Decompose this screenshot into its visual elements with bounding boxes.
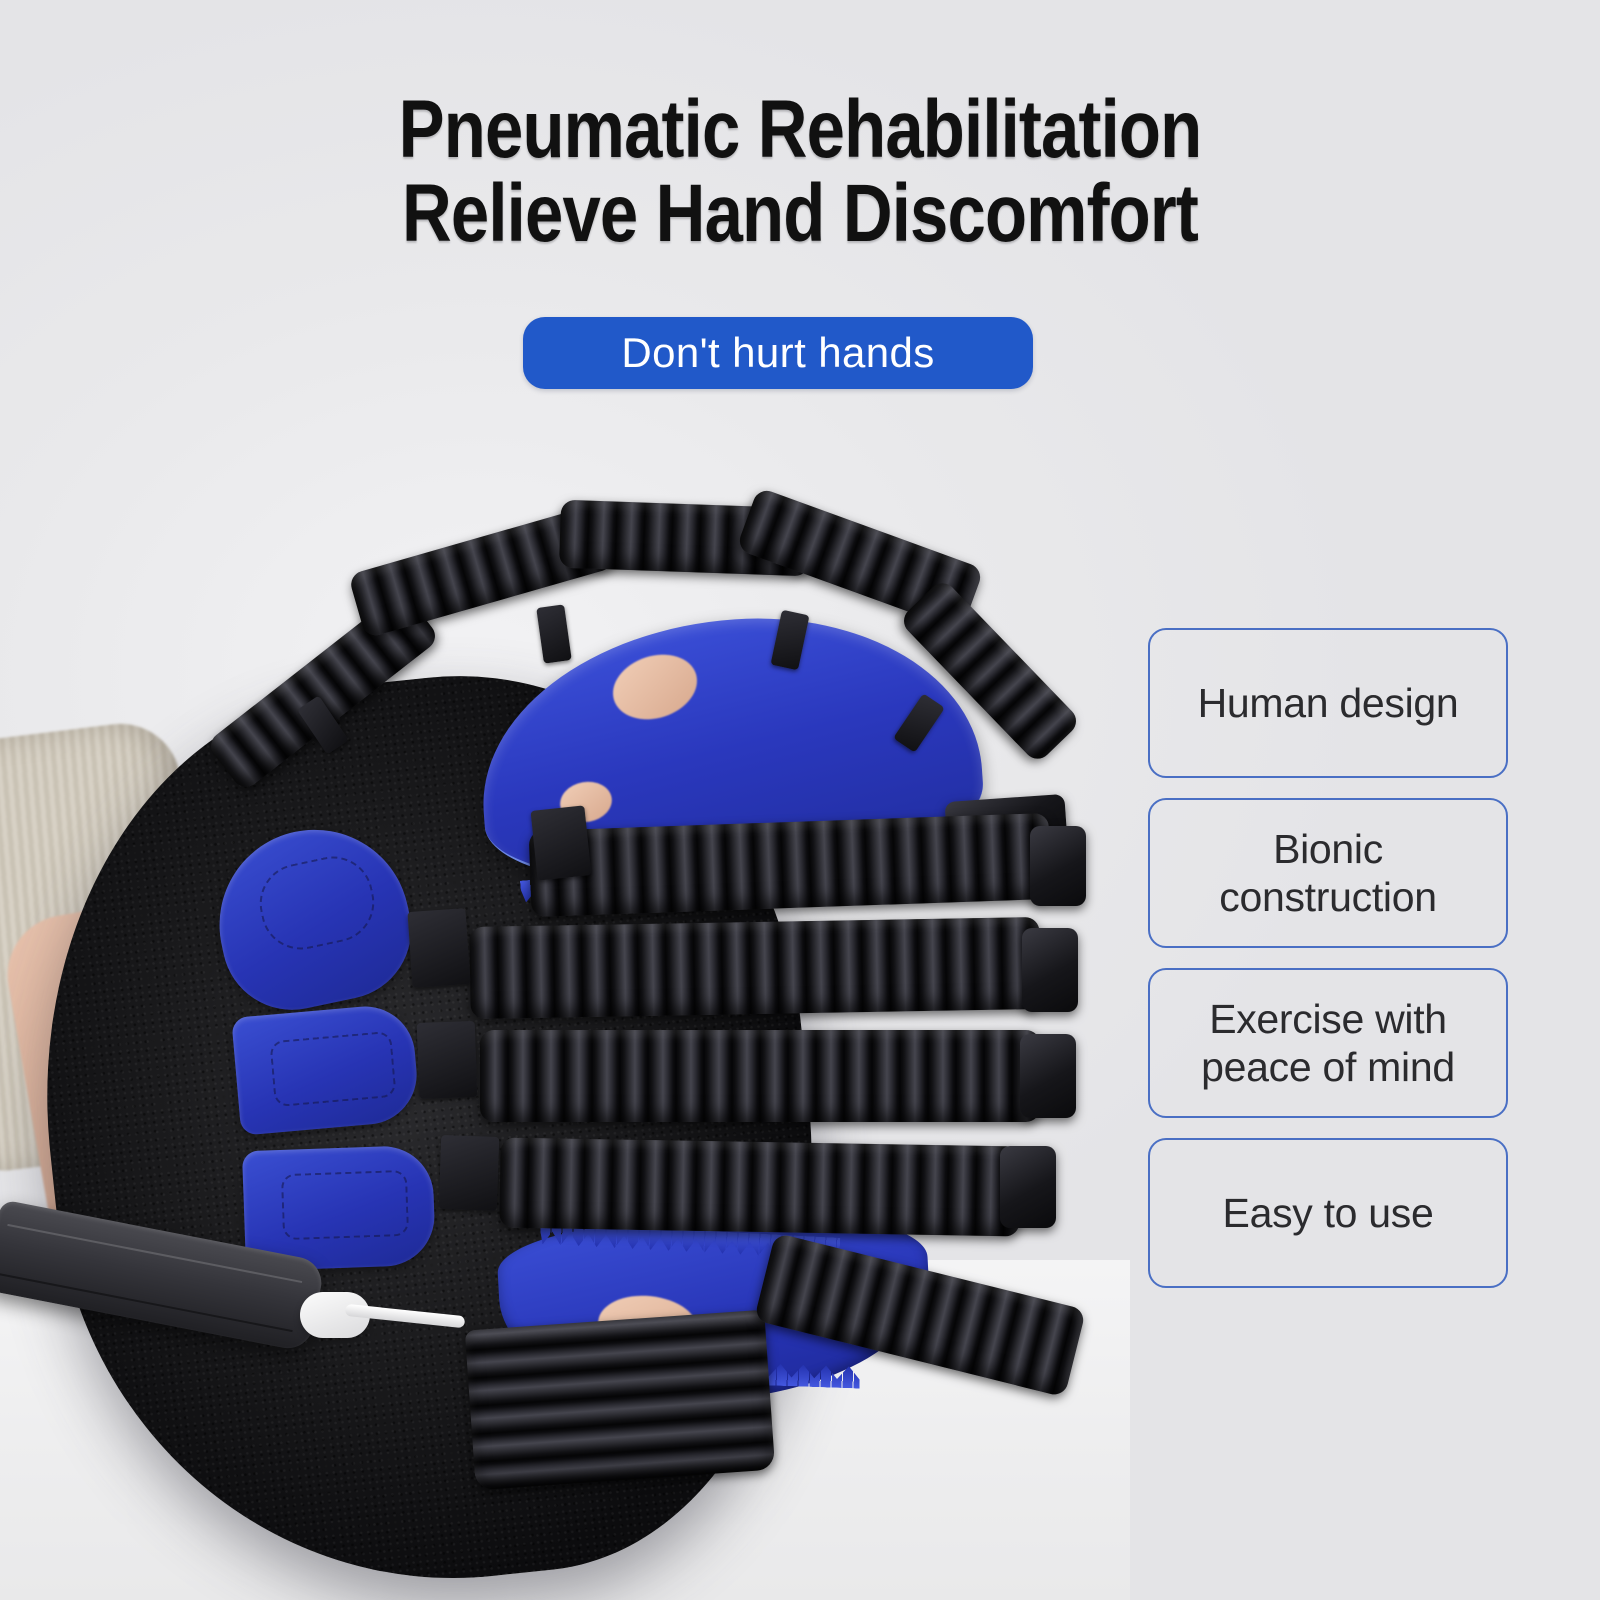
actuator-tube-finger-1	[529, 813, 1052, 917]
finger-pad-2-stitching	[269, 1031, 396, 1107]
product-photo-scene	[0, 430, 1130, 1600]
finger-pad-3-stitching	[281, 1170, 409, 1240]
page-headline: Pneumatic Rehabilitation Relieve Hand Di…	[128, 88, 1472, 255]
product-photo	[0, 430, 1130, 1600]
actuator-clip-finger-2	[407, 908, 470, 988]
feature-label: Exercise with peace of mind	[1160, 995, 1496, 1092]
actuator-end-cap-finger-2	[1022, 928, 1078, 1012]
dont-hurt-hands-badge: Don't hurt hands	[523, 317, 1033, 389]
actuator-clip-finger-4	[439, 1135, 500, 1211]
headline-line-2: Relieve Hand Discomfort	[128, 172, 1472, 256]
feature-label: Bionic construction	[1160, 825, 1496, 922]
feature-box-easy-to-use: Easy to use	[1148, 1138, 1508, 1288]
feature-label: Human design	[1198, 679, 1459, 727]
actuator-tube-finger-2	[469, 917, 1041, 1019]
headline-line-1: Pneumatic Rehabilitation	[128, 88, 1472, 172]
actuator-tube-finger-4	[499, 1137, 1020, 1236]
actuator-connector-tab-2	[536, 604, 572, 663]
actuator-clip-finger-1	[530, 805, 591, 880]
feature-label: Easy to use	[1223, 1189, 1434, 1237]
actuator-tube-finger-3	[480, 1030, 1040, 1122]
feature-box-bionic-construction: Bionic construction	[1148, 798, 1508, 948]
actuator-tube-bottom-tail	[465, 1310, 775, 1491]
feature-list: Human design Bionic construction Exercis…	[1148, 628, 1508, 1288]
feature-box-human-design: Human design	[1148, 628, 1508, 778]
feature-box-exercise-peace-of-mind: Exercise with peace of mind	[1148, 968, 1508, 1118]
product-marketing-page: Pneumatic Rehabilitation Relieve Hand Di…	[0, 0, 1600, 1600]
badge-label: Don't hurt hands	[621, 329, 934, 377]
actuator-end-cap-finger-4	[1000, 1146, 1056, 1228]
actuator-end-cap-finger-3	[1020, 1034, 1076, 1118]
actuator-clip-finger-3	[417, 1021, 478, 1099]
actuator-end-cap-finger-1	[1030, 826, 1086, 906]
